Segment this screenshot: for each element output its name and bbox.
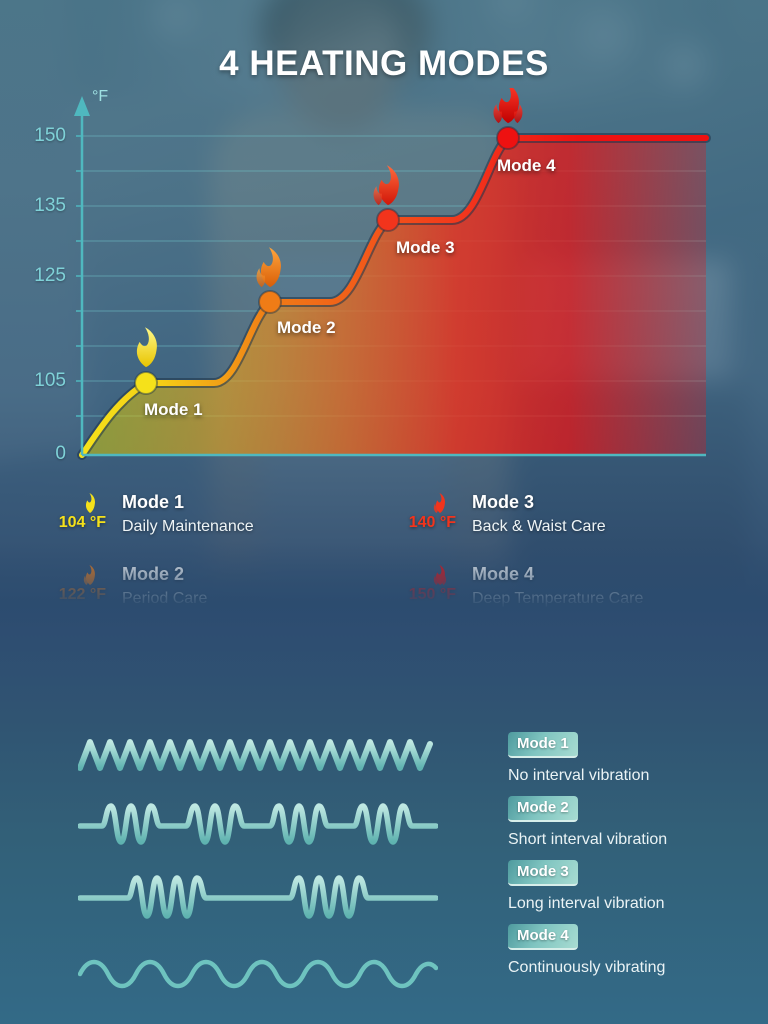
- curve-label-mode-4: Mode 4: [497, 156, 556, 176]
- heating-section-title: 4 HEATING MODES: [0, 44, 768, 84]
- flame-icon-mode-1: [137, 327, 157, 367]
- waveform-group: [78, 730, 448, 1000]
- waveform-mode-2: [78, 798, 438, 854]
- vibration-item-mode-2: Mode 2 Short interval vibration: [508, 796, 758, 849]
- section-fade-divider: [0, 542, 768, 632]
- vibration-item-mode-4: Mode 4 Continuously vibrating: [508, 924, 758, 977]
- legend-mode-name: Mode 3: [472, 492, 534, 513]
- waveform-mode-1: [78, 730, 438, 786]
- vibration-mode-badge: Mode 1: [508, 732, 578, 758]
- vibration-mode-badge: Mode 2: [508, 796, 578, 822]
- y-axis-unit-label: °F: [92, 88, 108, 106]
- y-tick-label-135: 135: [14, 195, 66, 217]
- curve-label-mode-1: Mode 1: [144, 400, 203, 420]
- data-point-mode-3: [377, 209, 399, 231]
- heating-temperature-chart: 150 135 125 105 0 Mode 1 Mode 2 Mode 3 M…: [0, 88, 768, 478]
- vibration-mode-description: Continuously vibrating: [508, 959, 758, 977]
- data-point-mode-4: [497, 127, 519, 149]
- y-tick-label-105: 105: [14, 370, 66, 392]
- data-point-mode-2: [259, 291, 281, 313]
- waveform-mode-3: [78, 870, 438, 926]
- data-point-mode-1: [135, 372, 157, 394]
- legend-mode-description: Back & Waist Care: [472, 518, 606, 536]
- legend-temperature: 104 °F: [22, 514, 106, 532]
- vibration-item-mode-3: Mode 3 Long interval vibration: [508, 860, 758, 913]
- curve-label-mode-3: Mode 3: [396, 238, 455, 258]
- vibration-mode-badge: Mode 4: [508, 924, 578, 950]
- vibration-mode-description: Long interval vibration: [508, 895, 758, 913]
- y-tick-label-150: 150: [14, 125, 66, 147]
- legend-mode-name: Mode 1: [122, 492, 184, 513]
- vibration-mode-description: Short interval vibration: [508, 831, 758, 849]
- heating-modes-section: 4 HEATING MODES: [0, 0, 768, 632]
- waveform-mode-4: [78, 942, 438, 998]
- curve-label-mode-2: Mode 2: [277, 318, 336, 338]
- vibration-modes-section: Mode 1 No interval vibration Mode 2 Shor…: [0, 632, 768, 1024]
- vibration-mode-description: No interval vibration: [508, 767, 758, 785]
- y-tick-label-0: 0: [14, 443, 66, 465]
- vibration-mode-badge: Mode 3: [508, 860, 578, 886]
- flame-icon-mode-2: [257, 247, 281, 287]
- flame-icon-mode-4: [494, 88, 523, 123]
- legend-temperature: 140 °F: [372, 514, 456, 532]
- infographic-page: 4 HEATING MODES: [0, 0, 768, 1024]
- vibration-item-mode-1: Mode 1 No interval vibration: [508, 732, 758, 785]
- legend-mode-description: Daily Maintenance: [122, 518, 254, 536]
- y-axis-arrow-icon: [74, 96, 90, 116]
- y-tick-label-125: 125: [14, 265, 66, 287]
